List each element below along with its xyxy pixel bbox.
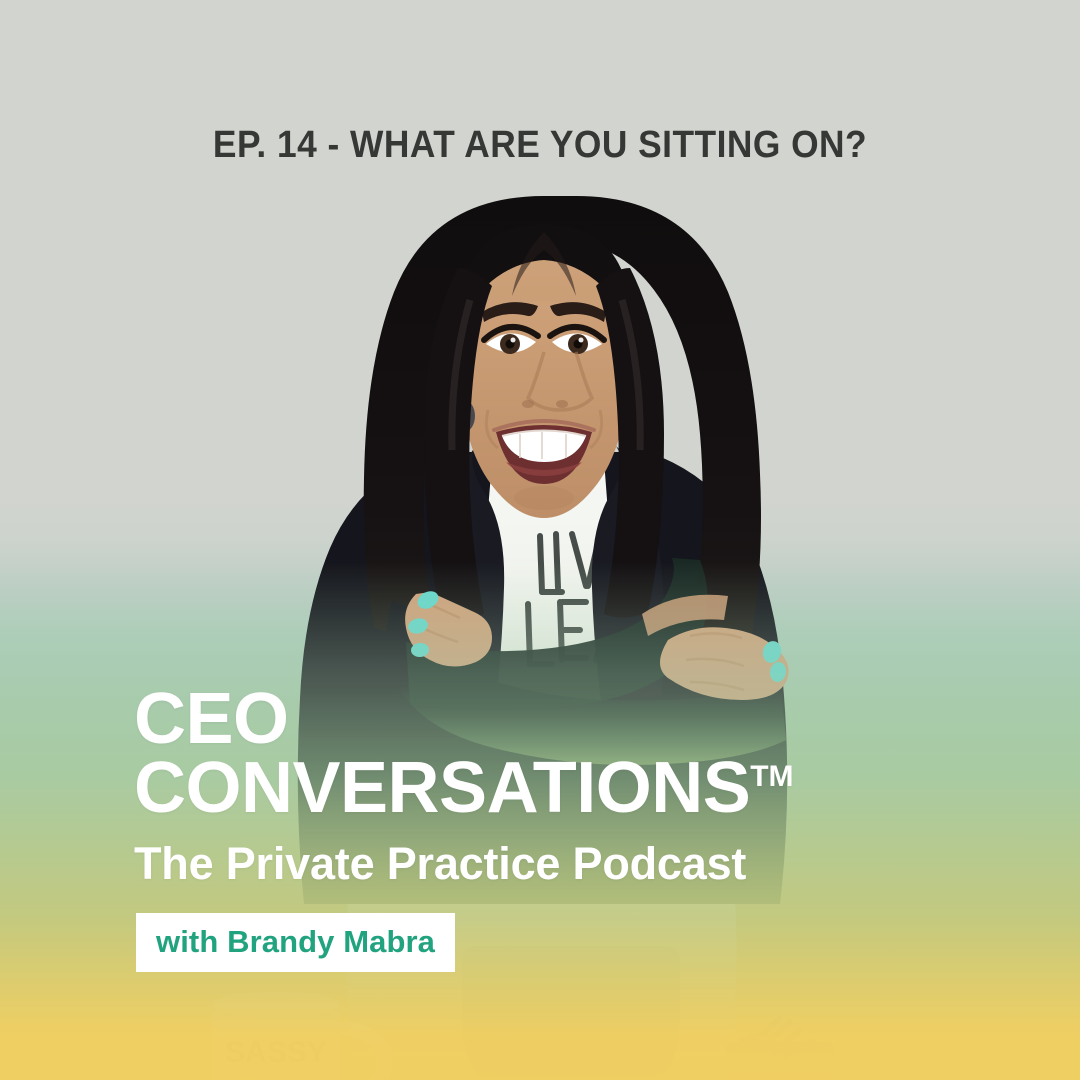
podcast-cover-art: SASSY — [0, 0, 1080, 1080]
episode-title: EP. 14 - WHAT ARE YOU SITTING ON? — [38, 124, 1042, 167]
brand-subtitle: The Private Practice Podcast — [134, 838, 954, 890]
trademark-symbol: TM — [750, 760, 793, 793]
brand-title-line-1: CEO — [134, 686, 954, 753]
brand-title-line-2: CONVERSATIONSTM — [134, 755, 954, 822]
host-badge: with Brandy Mabra — [136, 913, 455, 972]
brand-lockup: CEO CONVERSATIONSTM The Private Practice… — [134, 686, 954, 890]
brand-title-word: CONVERSATIONS — [134, 748, 750, 828]
